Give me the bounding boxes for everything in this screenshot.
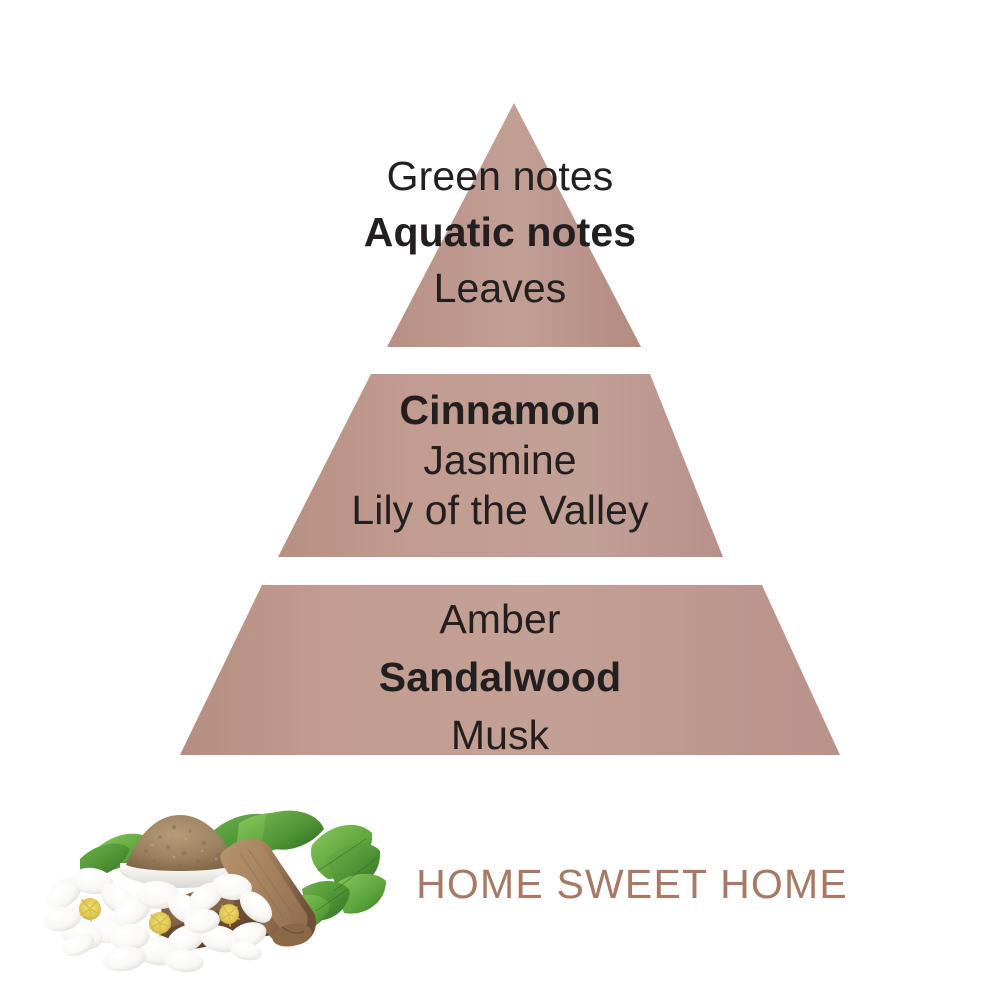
note-sandalwood: Sandalwood bbox=[0, 648, 1000, 706]
note-jasmine: Jasmine bbox=[0, 435, 1000, 485]
fragrance-pyramid-page: Green notes Aquatic notes Leaves Cinnamo… bbox=[0, 0, 1000, 1000]
pyramid-tier-bottom-notes: Amber Sandalwood Musk bbox=[0, 590, 1000, 764]
note-lily-of-the-valley: Lily of the Valley bbox=[0, 485, 1000, 535]
note-cinnamon: Cinnamon bbox=[0, 385, 1000, 435]
note-aquatic-notes: Aquatic notes bbox=[0, 204, 1000, 260]
ingredients-photo bbox=[34, 793, 404, 978]
note-leaves: Leaves bbox=[0, 260, 1000, 316]
pyramid-tier-middle-notes: Cinnamon Jasmine Lily of the Valley bbox=[0, 385, 1000, 535]
note-musk: Musk bbox=[0, 706, 1000, 764]
pyramid-tier-top-notes: Green notes Aquatic notes Leaves bbox=[0, 148, 1000, 316]
fragrance-name-caption: HOME SWEET HOME bbox=[390, 861, 874, 908]
note-amber: Amber bbox=[0, 590, 1000, 648]
note-green-notes: Green notes bbox=[0, 148, 1000, 204]
